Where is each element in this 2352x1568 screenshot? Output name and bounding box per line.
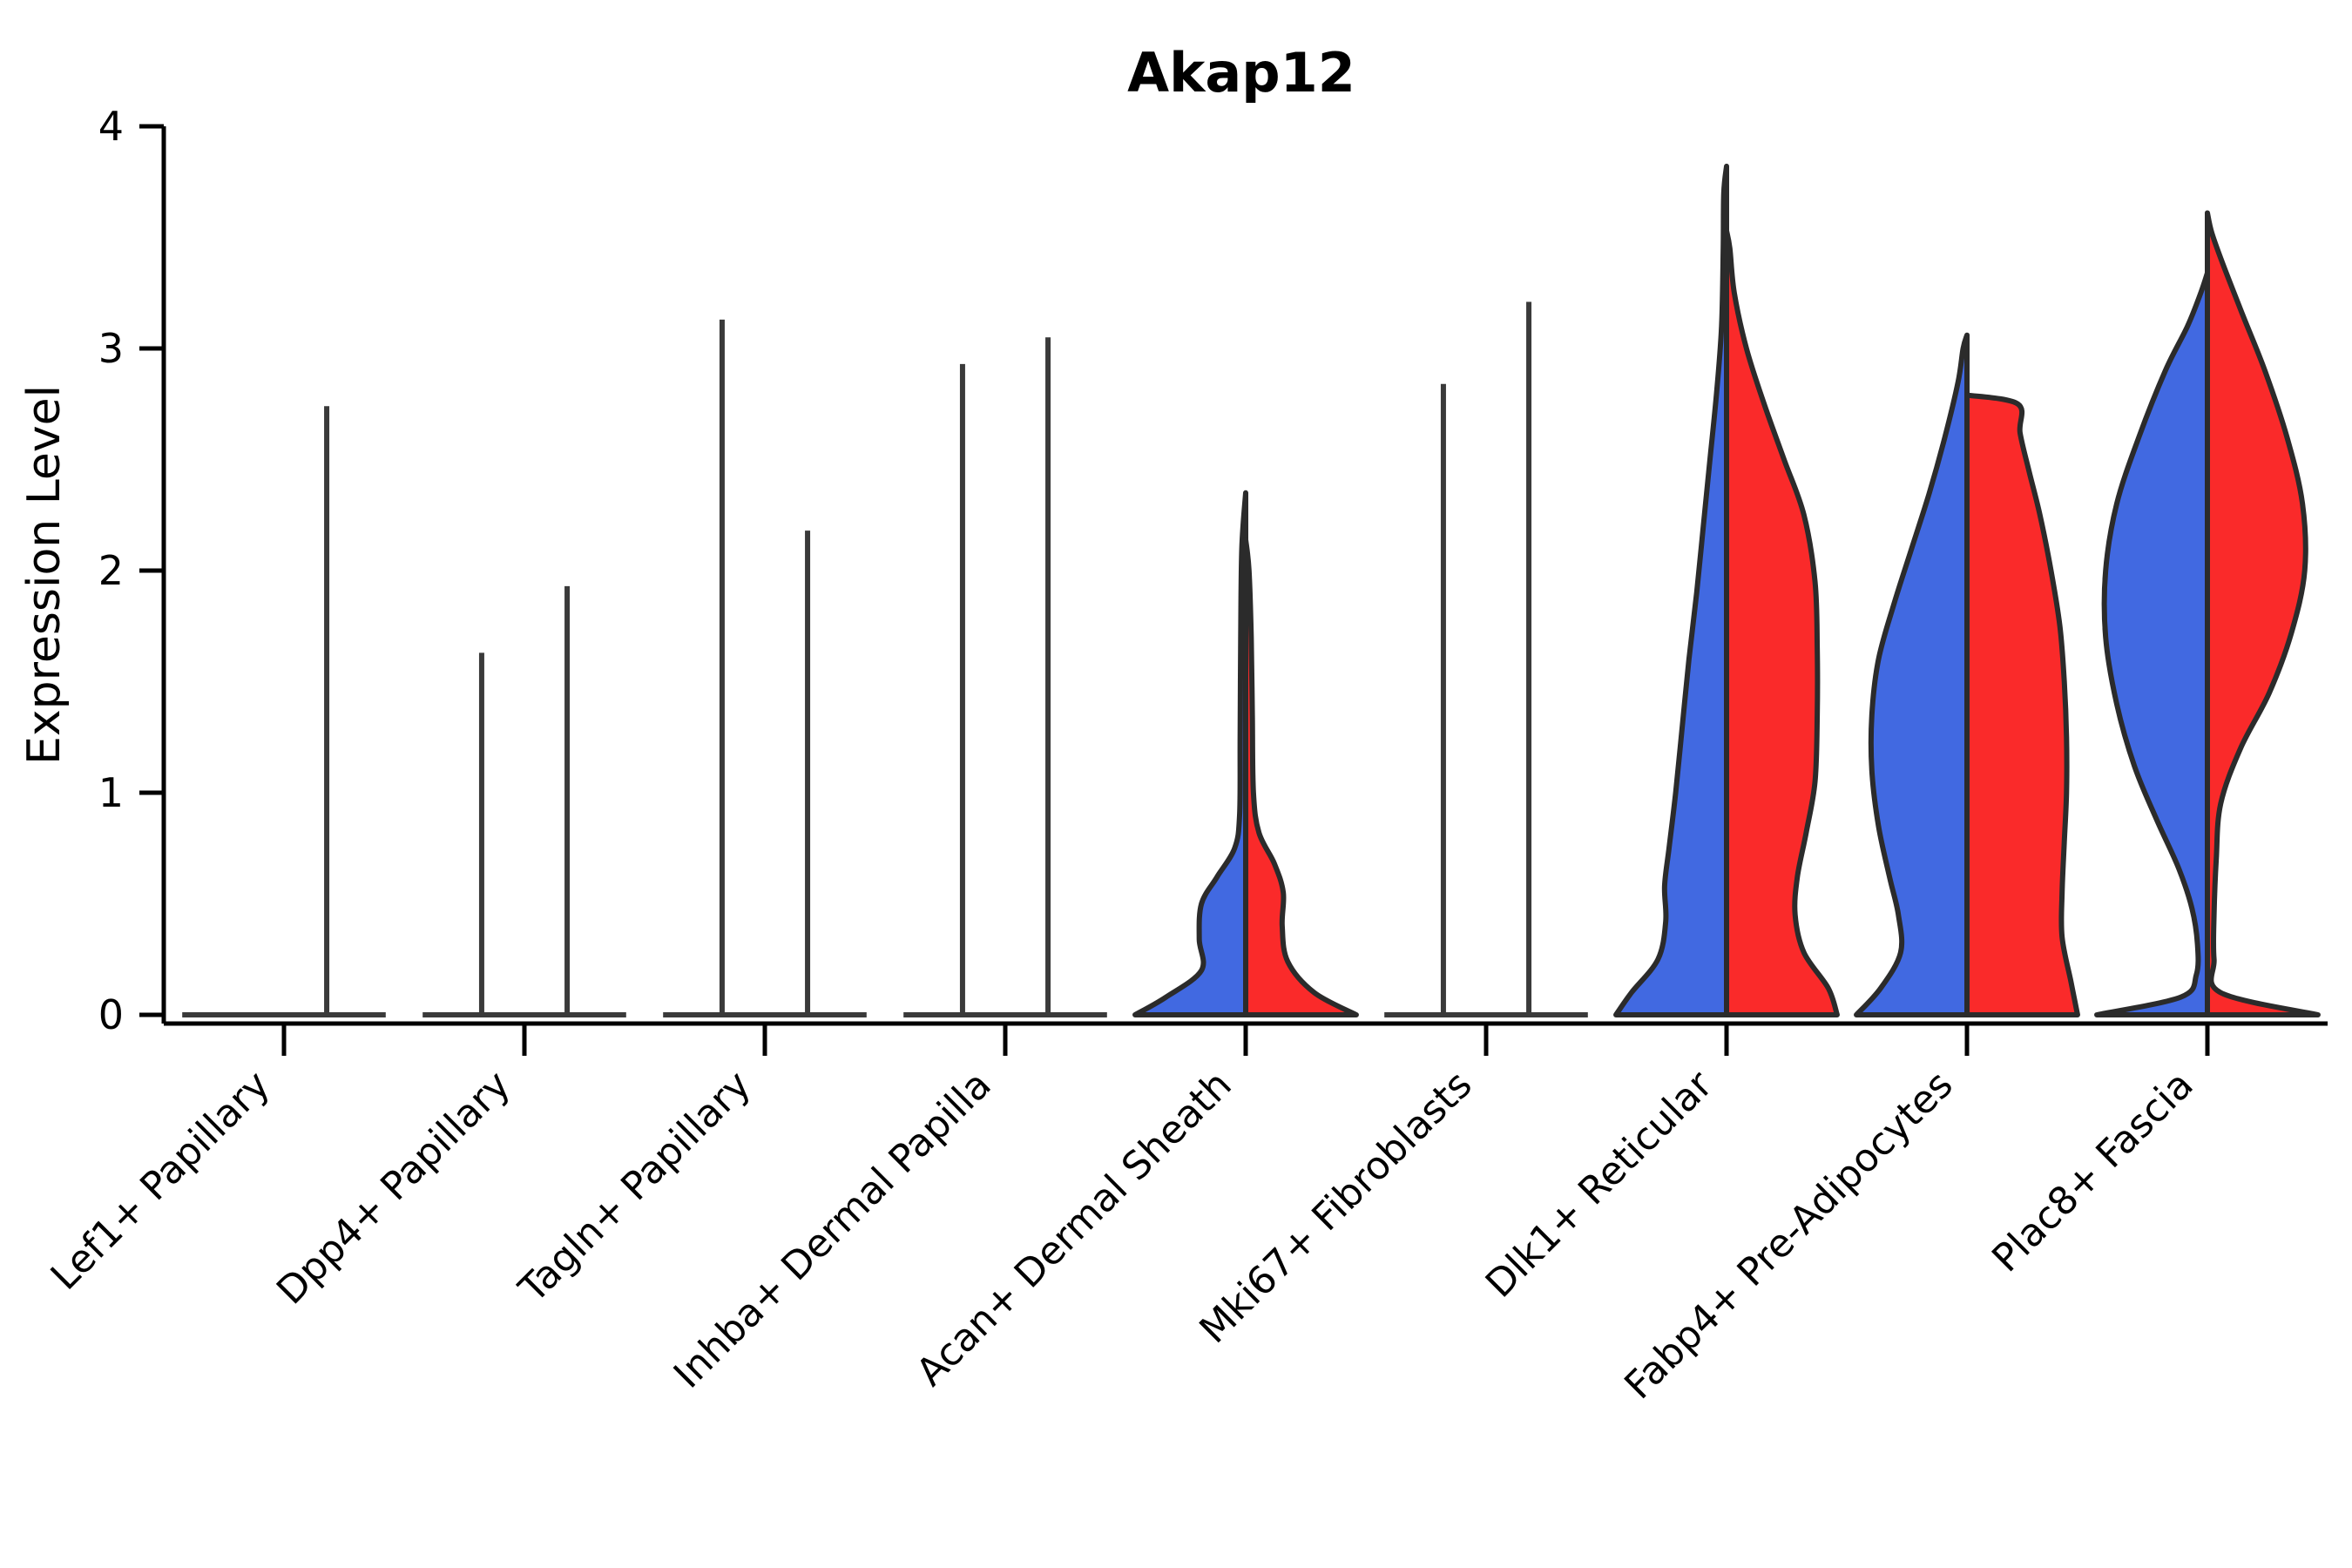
violin-group_b-7 — [1967, 395, 2078, 1015]
violin-group_b-4 — [1246, 539, 1356, 1015]
violin-plot-figure: Akap12 01234 Expression Level Lef1+ Papi… — [0, 0, 2352, 1568]
violin-body — [1135, 493, 1246, 1015]
x-tick-label: Dpp4+ Papillary — [268, 1063, 519, 1314]
y-tick-label: 0 — [98, 991, 124, 1038]
page-title: Akap12 — [1127, 41, 1355, 105]
x-tick-label: Plac8+ Fascia — [1984, 1063, 2202, 1281]
violin-group_a-3 — [903, 364, 1005, 1015]
x-tick-label: Lef1+ Papillary — [43, 1063, 279, 1299]
violin-body — [1856, 335, 1967, 1015]
x-axis-labels: Lef1+ PapillaryDpp4+ PapillaryTagln+ Pap… — [43, 1062, 2202, 1408]
violin-body — [2097, 273, 2207, 1015]
violin-group_a-7 — [1856, 335, 1967, 1015]
y-axis-ticks: 01234 — [98, 103, 164, 1038]
y-tick-label: 2 — [98, 547, 124, 594]
plot-canvas: Akap12 01234 Expression Level Lef1+ Papi… — [0, 0, 2352, 1568]
violin-group_b-8 — [2207, 213, 2318, 1015]
violin-group_b-3 — [1005, 337, 1107, 1015]
violin-group_b-1 — [524, 586, 626, 1015]
violin-group_b-0 — [284, 406, 386, 1015]
y-tick-label: 1 — [98, 769, 124, 816]
violin-group_a-2 — [663, 320, 765, 1015]
violin-group_b-2 — [765, 531, 867, 1015]
x-axis-ticks — [284, 1024, 2207, 1056]
y-tick-label: 3 — [98, 325, 124, 372]
violin-group_a-5 — [1384, 384, 1486, 1015]
violin-group_b-5 — [1486, 301, 1588, 1015]
violin-body — [1967, 395, 2078, 1015]
x-tick-label: Tagln+ Papillary — [510, 1063, 760, 1312]
x-tick-label: Mki67+ Fibroblasts — [1191, 1063, 1480, 1352]
violin-group_a-8 — [2097, 273, 2207, 1015]
violin-shapes-layer — [182, 166, 2318, 1015]
x-tick-label: Dlk1+ Reticular — [1477, 1062, 1722, 1307]
violin-body — [1246, 539, 1356, 1015]
violin-body — [2207, 213, 2318, 1015]
violin-group_a-4 — [1135, 493, 1246, 1015]
y-axis-title: Expression Level — [18, 385, 71, 765]
violin-group_a-6 — [1616, 166, 1727, 1015]
violin-group_b-6 — [1727, 231, 1837, 1015]
violin-body — [1727, 231, 1837, 1015]
violin-body — [1616, 166, 1727, 1015]
y-tick-label: 4 — [98, 103, 124, 150]
